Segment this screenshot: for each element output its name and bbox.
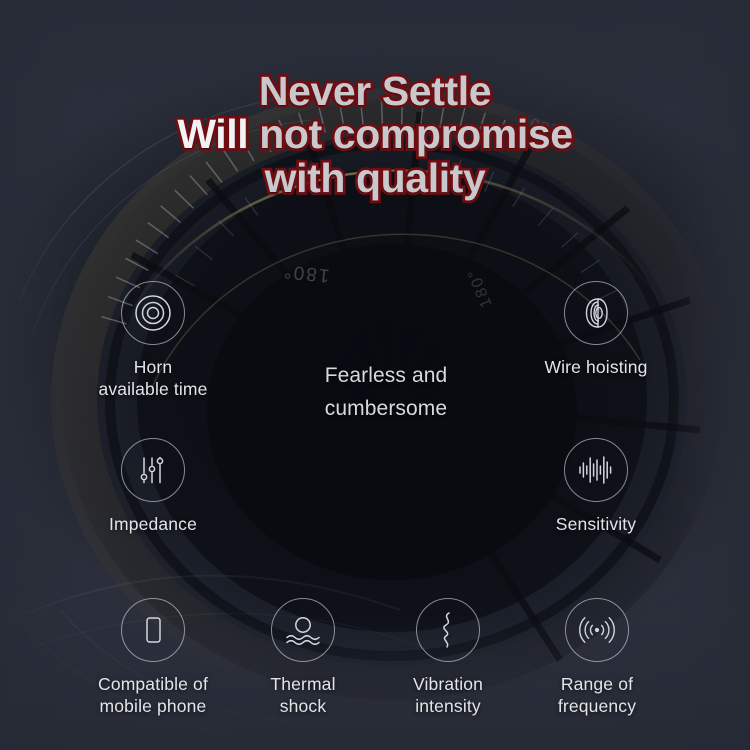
feature-compatible-mobile-phone: Compatible of mobile phone [58,598,248,718]
headline-block: Never Settle Will not compromise with qu… [0,70,750,200]
dial-label-180-left: 180° [281,260,330,286]
feature-label: Thermal shock [228,673,378,718]
feature-horn-available-time: Horn available time [43,281,263,401]
coil-wire-icon [564,281,628,345]
headline-line-1: Never Settle [0,70,750,113]
signal-waves-icon [565,598,629,662]
sun-over-waves-icon [271,598,335,662]
headline-line-2-strong: Will [177,111,248,157]
feature-impedance: Impedance [63,438,243,535]
feature-label: Sensitivity [508,513,684,535]
feature-wire-hoisting: Wire hoisting [490,281,702,378]
sliders-icon [121,438,185,502]
promo-banner: 180° 180° 180° Never Settle Will not com… [0,0,750,750]
zigzag-vibration-icon [416,598,480,662]
feature-vibration-intensity: Vibration intensity [375,598,521,718]
center-tagline: Fearless and cumbersome [281,360,491,425]
feature-label: Horn available time [43,356,263,401]
feature-label: Compatible of mobile phone [58,673,248,718]
feature-label: Vibration intensity [375,673,521,718]
feature-range-of-frequency: Range of frequency [523,598,671,718]
feature-sensitivity: Sensitivity [508,438,684,535]
concentric-circles-icon [121,281,185,345]
feature-label: Wire hoisting [490,356,702,378]
headline-line-3: with quality [0,157,750,200]
waveform-icon [564,438,628,502]
feature-label: Range of frequency [523,673,671,718]
feature-label: Impedance [63,513,243,535]
headline-line-2: Will not compromise [0,113,750,156]
headline-line-2-rest: not compromise [248,111,572,157]
feature-thermal-shock: Thermal shock [228,598,378,718]
mobile-phone-icon [121,598,185,662]
